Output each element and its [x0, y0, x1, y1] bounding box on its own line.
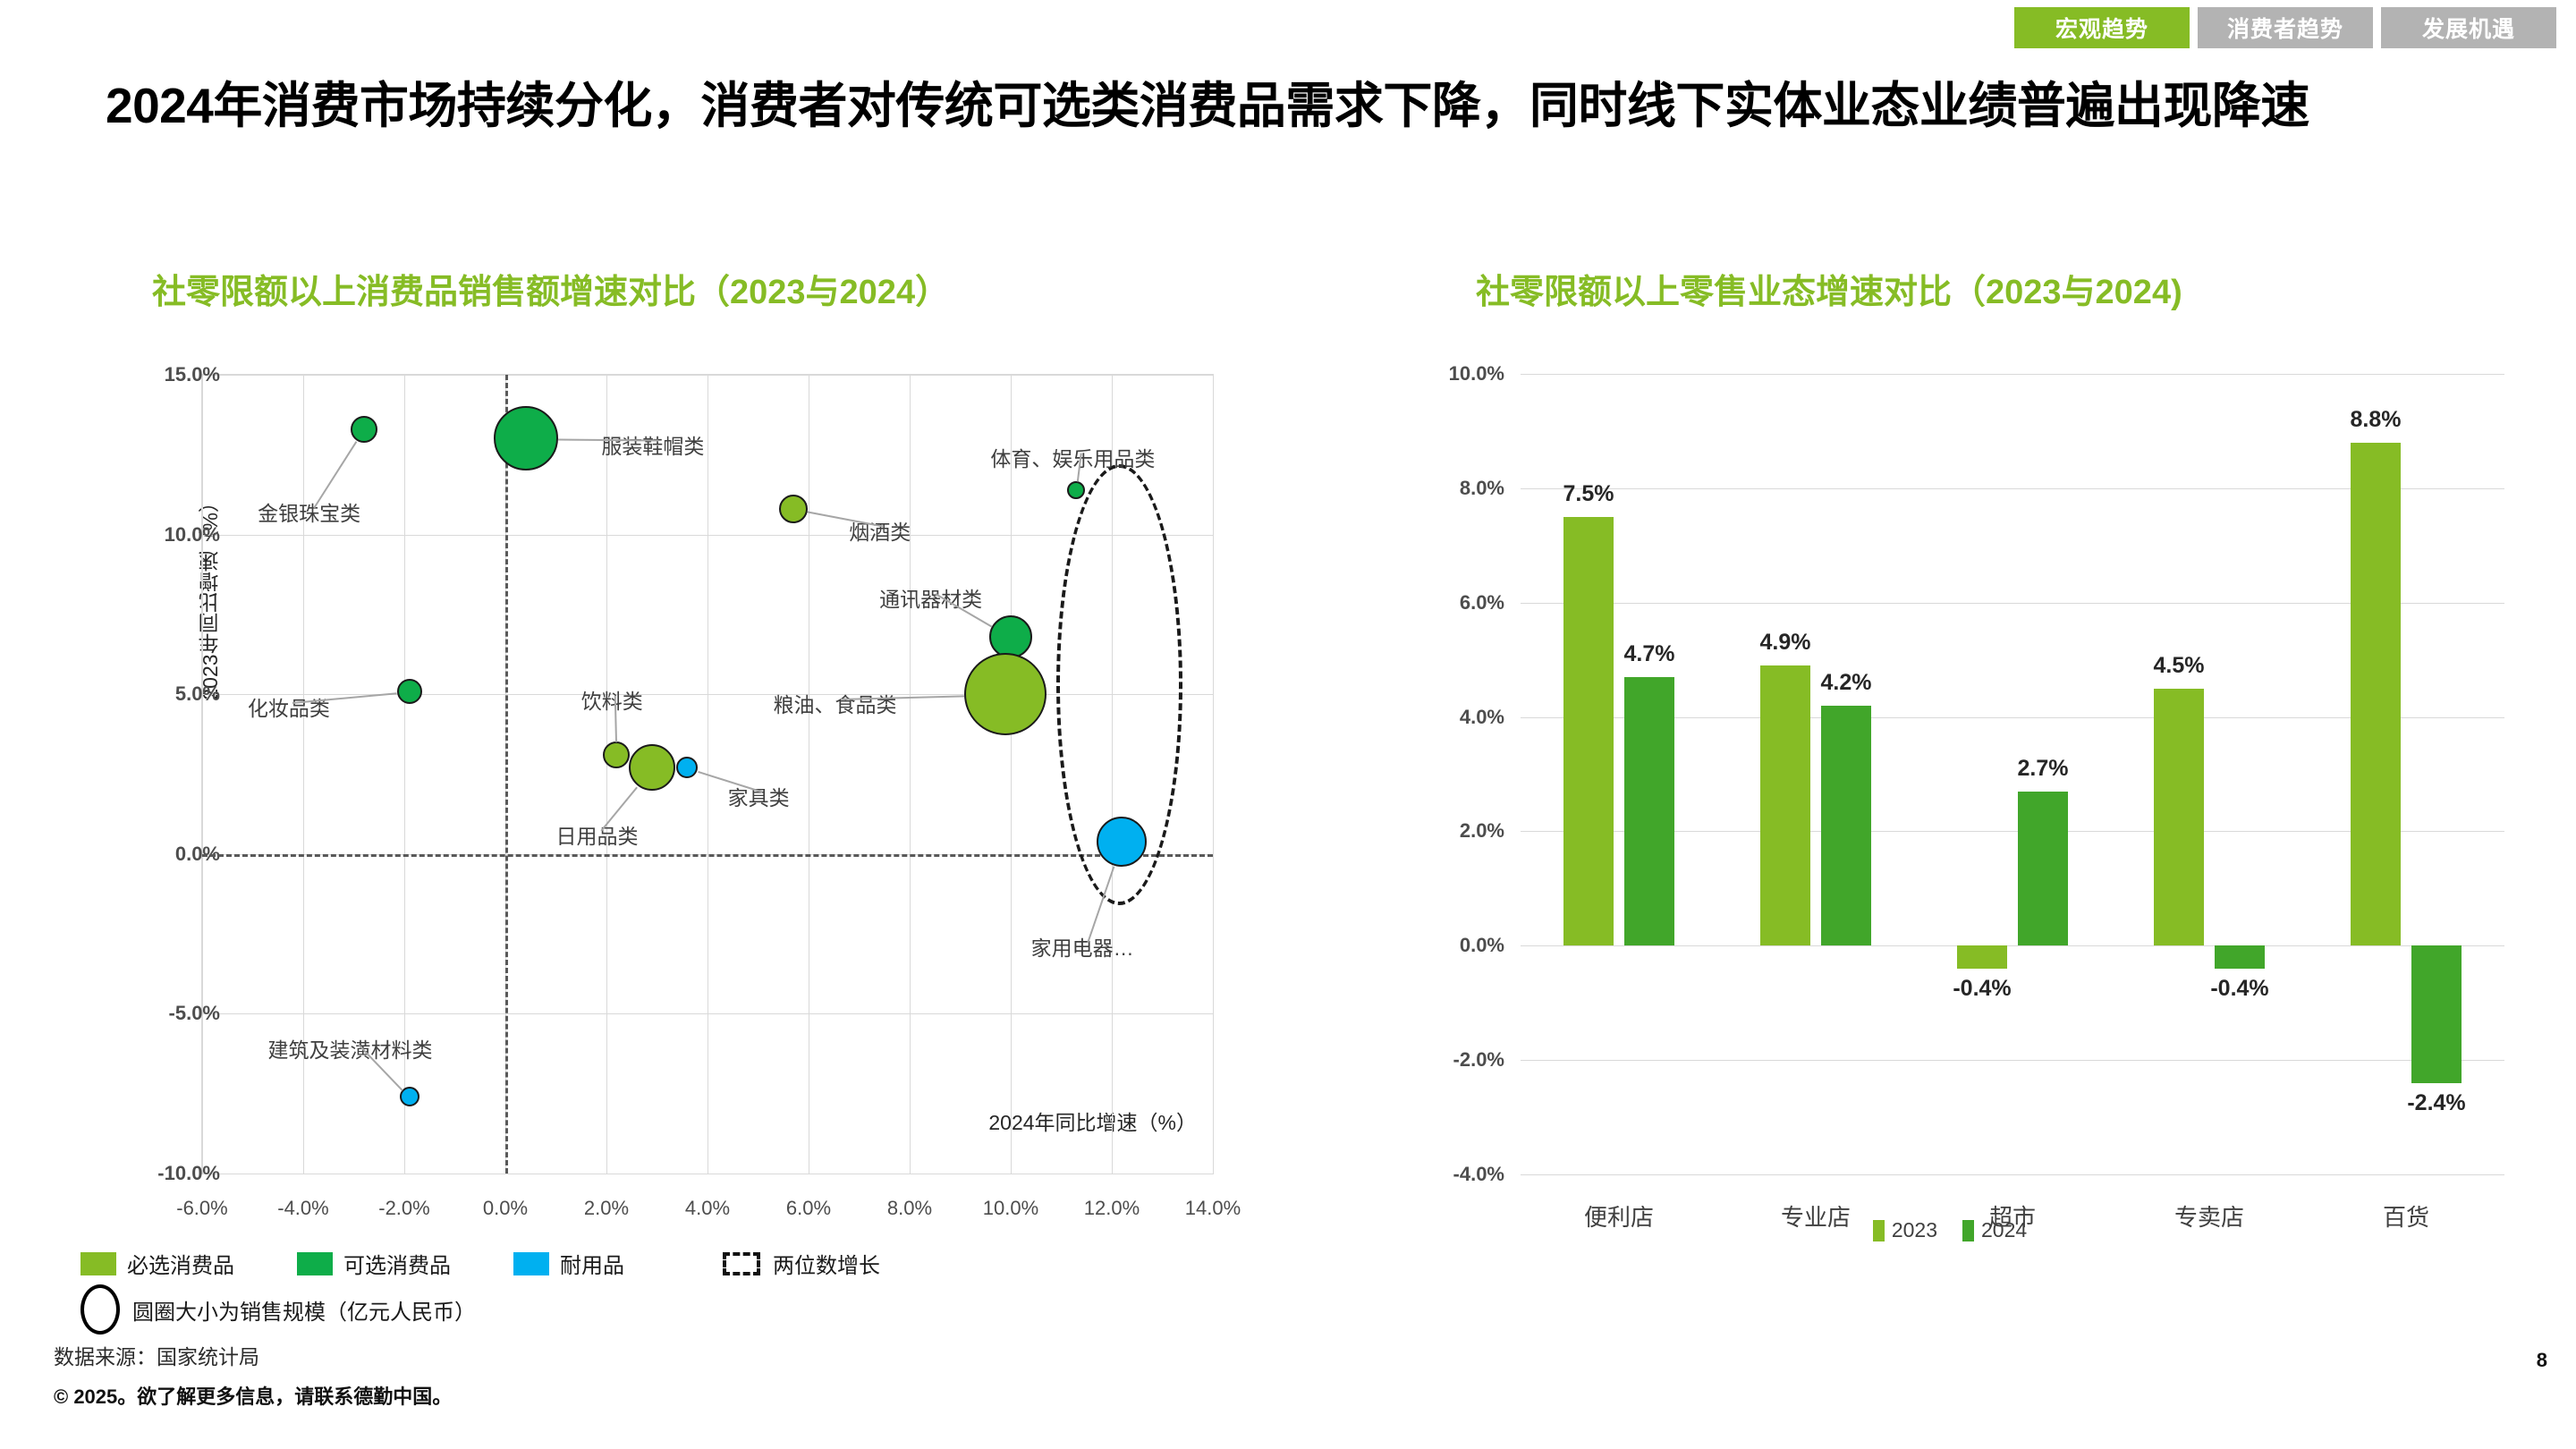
bar[interactable] — [1563, 517, 1614, 945]
bubble-y-tick: 5.0% — [41, 682, 220, 706]
bar-value-label: 7.5% — [1517, 481, 1660, 507]
dashed-box-icon — [723, 1252, 760, 1275]
bubble-point[interactable] — [629, 744, 675, 791]
bubble-point[interactable] — [351, 416, 377, 443]
bubble-gridline-h — [202, 1013, 1213, 1014]
bubble-label: 体育、娱乐用品类 — [990, 442, 1155, 472]
bubble-gridline-v — [1011, 375, 1012, 1174]
legend-color-swatch — [80, 1252, 116, 1275]
bubble-y-tick: 15.0% — [41, 363, 220, 386]
bar-value-label: -0.4% — [1911, 976, 2054, 1002]
legend-row-size-note: 圆圈大小为销售规模（亿元人民币） — [80, 1284, 1181, 1335]
bar-y-tick: 2.0% — [1335, 819, 1504, 843]
bar-value-label: 4.5% — [2107, 653, 2250, 679]
bar-y-tick: 8.0% — [1335, 477, 1504, 500]
bubble-point[interactable] — [397, 679, 422, 704]
bar-value-label: 8.8% — [2304, 407, 2447, 433]
bubble-label: 金银珠宝类 — [258, 496, 360, 527]
bar-legend-item-1: 2024 — [1962, 1218, 2027, 1242]
bar-gridline — [1521, 1060, 2504, 1061]
bubble-gridline-h — [202, 1174, 1213, 1174]
bar-value-label: 4.7% — [1578, 641, 1721, 667]
bar[interactable] — [1957, 945, 2007, 969]
bar-gridline — [1521, 1174, 2504, 1175]
legend-item-label: 耐用品 — [560, 1248, 624, 1279]
bubble-y-tick: -10.0% — [41, 1162, 220, 1185]
bubble-gridline-v — [910, 375, 911, 1174]
bar[interactable] — [2411, 945, 2462, 1082]
bubble-gridline-h — [202, 535, 1213, 536]
bubble-y-tick: 0.0% — [41, 843, 220, 866]
bubble-y-tick: 10.0% — [41, 523, 220, 547]
bar-y-tick: 10.0% — [1335, 362, 1504, 386]
bar-chart: 10.0%8.0%6.0%4.0%2.0%0.0%-2.0%-4.0%7.5%4… — [1377, 358, 2522, 1261]
bar-legend-swatch — [1962, 1220, 1974, 1241]
bubble-plot-area: 2024年同比增速（%） -6.0%-4.0%-2.0%0.0%2.0%4.0%… — [201, 374, 1214, 1174]
legend-item-label: 两位数增长 — [773, 1248, 880, 1279]
bar-gridline — [1521, 374, 2504, 375]
bubble-point[interactable] — [989, 615, 1032, 658]
bubble-leader-line — [558, 439, 658, 441]
legend-item-label: 必选消费品 — [127, 1248, 234, 1279]
bubble-point[interactable] — [1067, 481, 1085, 499]
bar[interactable] — [2351, 443, 2401, 946]
bubble-point[interactable] — [676, 757, 698, 778]
bar-plot-area: 10.0%8.0%6.0%4.0%2.0%0.0%-2.0%-4.0%7.5%4… — [1521, 374, 2504, 1174]
bar[interactable] — [1624, 677, 1674, 945]
nav-tab-0[interactable]: 宏观趋势 — [2014, 7, 2190, 48]
bubble-point[interactable] — [1097, 817, 1147, 867]
nav-tab-2[interactable]: 发展机遇 — [2381, 7, 2556, 48]
copyright-note: © 2025。欲了解更多信息，请联系德勤中国。 — [54, 1381, 452, 1410]
legend-size-note: 圆圈大小为销售规模（亿元人民币） — [132, 1294, 476, 1326]
bubble-point[interactable] — [494, 406, 558, 470]
bar[interactable] — [2154, 689, 2204, 946]
bar-value-label: -2.4% — [2365, 1090, 2508, 1116]
legend-color-swatch — [513, 1252, 549, 1275]
bar-legend-label: 2024 — [1981, 1218, 2027, 1242]
bubble-label: 日用品类 — [556, 819, 639, 850]
bar-y-tick: 0.0% — [1335, 934, 1504, 957]
nav-tab-1[interactable]: 消费者趋势 — [2198, 7, 2373, 48]
bar[interactable] — [2215, 945, 2265, 969]
left-chart-subtitle: 社零限额以上消费品销售额增速对比（2023与2024） — [152, 264, 949, 313]
bubble-chart-legend: 必选消费品可选消费品耐用品两位数增长 圆圈大小为销售规模（亿元人民币） — [80, 1248, 1181, 1335]
nav-tab-label: 消费者趋势 — [2227, 12, 2343, 44]
bubble-label: 化妆品类 — [248, 691, 330, 722]
bubble-gridline-v — [202, 375, 203, 1174]
bubble-point[interactable] — [964, 653, 1046, 735]
bubble-gridline-v — [1213, 375, 1214, 1174]
bubble-label: 烟酒类 — [849, 515, 911, 546]
bubble-y-tick: -5.0% — [41, 1002, 220, 1025]
bubble-gridline-v — [606, 375, 607, 1174]
bar-y-tick: 4.0% — [1335, 706, 1504, 729]
bar-y-tick: -4.0% — [1335, 1163, 1504, 1186]
legend-row-categories: 必选消费品可选消费品耐用品两位数增长 — [80, 1248, 1181, 1279]
legend-item-label: 可选消费品 — [343, 1248, 451, 1279]
bar-value-label: -0.4% — [2168, 976, 2311, 1002]
bubble-zero-line-vertical — [505, 375, 508, 1174]
bar-legend-swatch — [1873, 1220, 1885, 1241]
bubble-point[interactable] — [603, 741, 630, 768]
bubble-x-axis-title: 2024年同比增速（%） — [988, 1106, 1197, 1136]
bar-y-tick: -2.0% — [1335, 1048, 1504, 1072]
page-title: 2024年消费市场持续分化，消费者对传统可选类消费品需求下降，同时线下实体业态业… — [106, 73, 2449, 139]
bar-legend-label: 2023 — [1892, 1218, 1937, 1242]
bar-gridline — [1521, 945, 2504, 946]
bar-value-label: 2.7% — [1971, 756, 2114, 782]
bubble-label: 通讯器材类 — [879, 582, 982, 613]
top-nav-tabs: 宏观趋势消费者趋势发展机遇 — [2014, 7, 2556, 48]
bar[interactable] — [1760, 665, 1810, 945]
legend-item-3: 两位数增长 — [723, 1248, 880, 1279]
right-chart-subtitle: 社零限额以上零售业态增速对比（2023与2024) — [1476, 264, 2182, 313]
bubble-label: 建筑及装潢材料类 — [267, 1033, 432, 1063]
bubble-label: 家用电器… — [1031, 931, 1134, 962]
bubble-label: 服装鞋帽类 — [601, 429, 704, 460]
bubble-gridline-v — [809, 375, 809, 1174]
bubble-x-tick: 14.0% — [1141, 1197, 1284, 1220]
bar-value-label: 4.9% — [1714, 630, 1857, 656]
bar-y-tick: 6.0% — [1335, 591, 1504, 614]
page-number: 8 — [2537, 1349, 2547, 1372]
nav-tab-label: 宏观趋势 — [2055, 12, 2148, 44]
bar-value-label: 4.2% — [1775, 670, 1918, 696]
bubble-label: 饮料类 — [581, 684, 643, 715]
bar-legend-item-0: 2023 — [1873, 1218, 1937, 1242]
source-note: 数据来源：国家统计局 — [54, 1340, 259, 1370]
legend-color-swatch — [297, 1252, 333, 1275]
circle-size-icon — [80, 1284, 120, 1335]
bubble-label: 粮油、食品类 — [773, 688, 896, 718]
bar[interactable] — [2018, 792, 2068, 946]
bubble-chart: 2023年同比增速（%） 2024年同比增速（%） -6.0%-4.0%-2.0… — [54, 358, 1181, 1199]
bubble-zero-line-horizontal — [202, 854, 1213, 857]
nav-tab-label: 发展机遇 — [2422, 12, 2515, 44]
legend-item-1: 可选消费品 — [297, 1248, 451, 1279]
legend-item-2: 耐用品 — [513, 1248, 624, 1279]
bar[interactable] — [1821, 706, 1871, 946]
bubble-point[interactable] — [779, 495, 808, 523]
bar-chart-legend: 20232024 — [1377, 1218, 2522, 1242]
bubble-gridline-h — [202, 375, 1213, 376]
legend-item-0: 必选消费品 — [80, 1248, 234, 1279]
